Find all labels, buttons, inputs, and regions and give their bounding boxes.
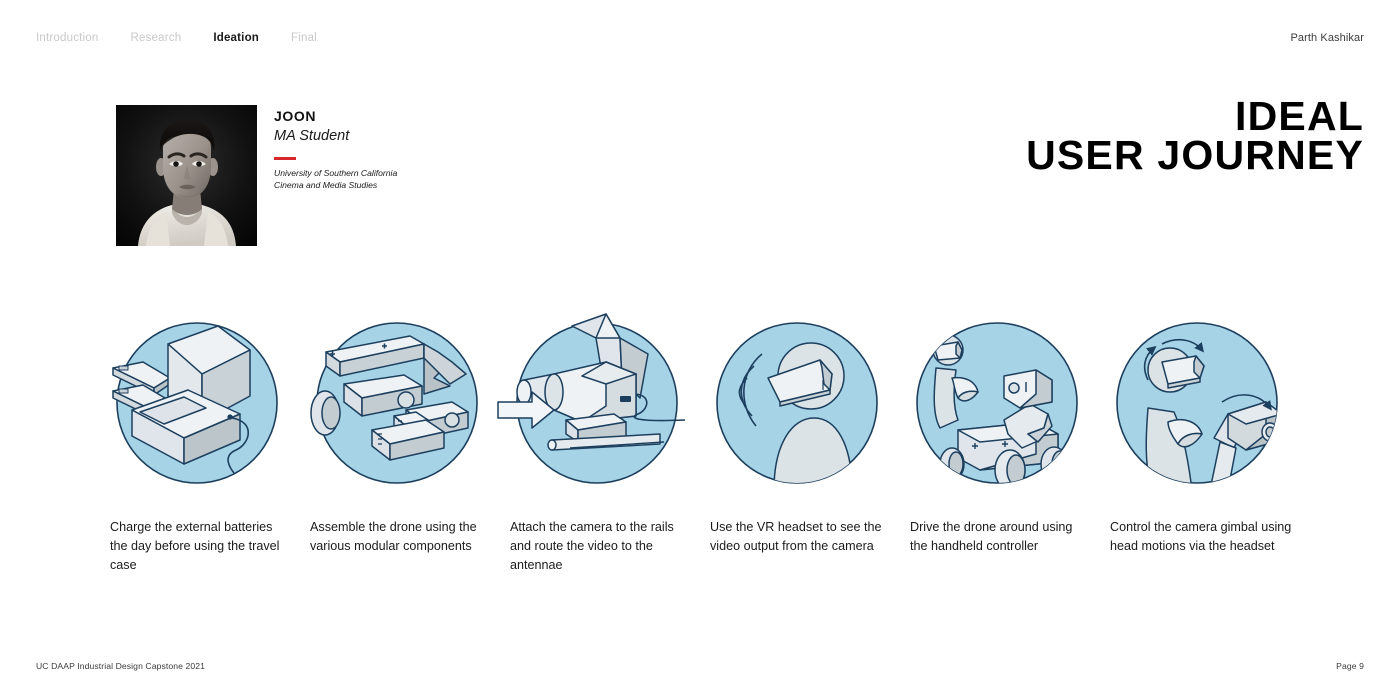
- page-number: Page 9: [1336, 661, 1364, 671]
- nav-item-introduction[interactable]: Introduction: [36, 32, 99, 44]
- portrait-photo-icon: [116, 105, 257, 246]
- journey-step-5: Drive the drone around using the handhel…: [910, 318, 1110, 493]
- persona-school-line1: University of Southern California: [274, 167, 504, 179]
- journey-step-1: Charge the external batteries the day be…: [110, 318, 310, 493]
- journey-step-3: Attach the camera to the rails and route…: [510, 318, 710, 493]
- slide-canvas: Introduction Research Ideation Final Par…: [0, 0, 1400, 700]
- journey-step-6: Control the camera gimbal using head mot…: [1110, 318, 1310, 493]
- journey-step-3-caption: Attach the camera to the rails and route…: [510, 518, 692, 575]
- vr-headset-signal-icon: [710, 318, 885, 493]
- journey-step-1-art: [110, 318, 285, 493]
- persona-info: JOON MA Student University of Southern C…: [274, 108, 504, 192]
- journey-step-6-caption: Control the camera gimbal using head mot…: [1110, 518, 1292, 556]
- nav-item-research[interactable]: Research: [131, 32, 182, 44]
- nav-item-ideation[interactable]: Ideation: [213, 32, 259, 44]
- page-title: IDEAL USER JOURNEY: [1026, 97, 1364, 174]
- journey-step-5-art: [910, 318, 1085, 493]
- handheld-controller-drone-icon: [910, 318, 1085, 493]
- persona-role: MA Student: [274, 127, 504, 145]
- journey-step-4: Use the VR headset to see the video outp…: [710, 318, 910, 493]
- journey-step-2-caption: Assemble the drone using the various mod…: [310, 518, 492, 556]
- avatar: [116, 105, 257, 246]
- persona-name: JOON: [274, 108, 504, 125]
- page-title-line2: USER JOURNEY: [1026, 136, 1364, 175]
- modular-drone-components-icon: [310, 318, 485, 493]
- section-nav: Introduction Research Ideation Final: [36, 32, 317, 44]
- journey-step-6-art: [1110, 318, 1285, 493]
- camera-rail-mount-icon: [510, 318, 685, 493]
- red-divider: [274, 157, 296, 160]
- journey-step-5-caption: Drive the drone around using the handhel…: [910, 518, 1092, 556]
- journey-step-1-caption: Charge the external batteries the day be…: [110, 518, 292, 575]
- author-name: Parth Kashikar: [1290, 32, 1364, 44]
- head-motion-gimbal-icon: [1110, 318, 1285, 493]
- journey-step-2: Assemble the drone using the various mod…: [310, 318, 510, 493]
- nav-item-final[interactable]: Final: [291, 32, 317, 44]
- journey-step-4-caption: Use the VR headset to see the video outp…: [710, 518, 892, 556]
- journey-step-3-art: [510, 318, 685, 493]
- journey-step-2-art: [310, 318, 485, 493]
- persona-school-line2: Cinema and Media Studies: [274, 179, 504, 191]
- travel-case-batteries-icon: [110, 318, 285, 493]
- journey-step-4-art: [710, 318, 885, 493]
- footer-left-text: UC DAAP Industrial Design Capstone 2021: [36, 661, 205, 671]
